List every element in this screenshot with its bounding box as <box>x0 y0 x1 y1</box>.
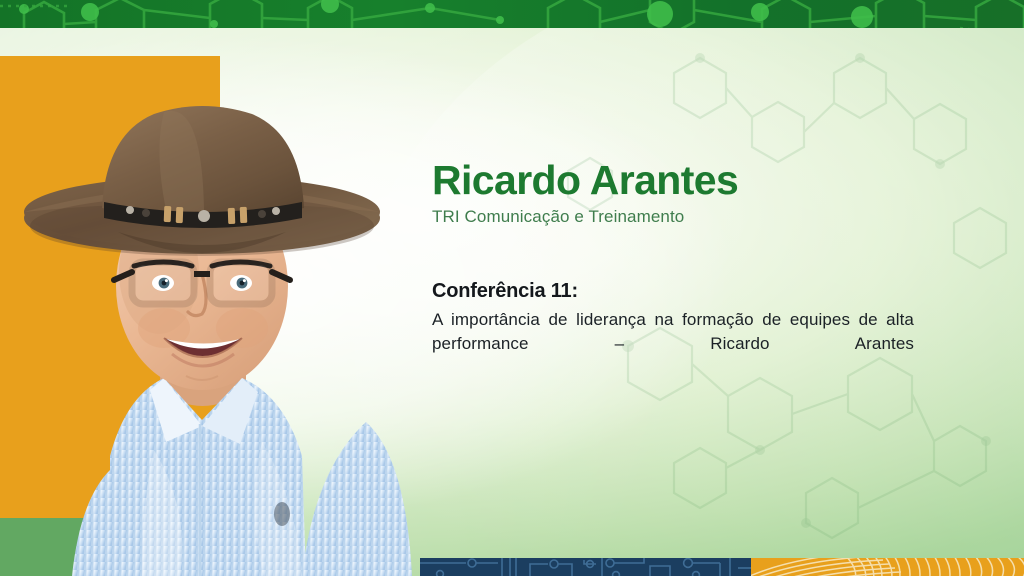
top-banner <box>0 0 1024 28</box>
talk-description: A importância de liderança na formação d… <box>432 308 914 380</box>
presentation-slide: Ricardo Arantes TRI Comunicação e Treina… <box>0 0 1024 576</box>
bottom-bar <box>420 558 1024 576</box>
circuit-board-strip <box>420 558 751 576</box>
speaker-info: Ricardo Arantes TRI Comunicação e Treina… <box>432 160 914 227</box>
talk-title: Conferência 11: <box>432 280 914 303</box>
speaker-organization: TRI Comunicação e Treinamento <box>432 207 914 227</box>
talk-info: Conferência 11: A importância de lideran… <box>432 280 914 380</box>
circuit-board-icon <box>420 558 751 576</box>
radiating-lines-strip <box>751 558 1024 576</box>
radiating-lines-icon <box>751 558 1024 576</box>
speaker-name: Ricardo Arantes <box>432 160 914 202</box>
orange-accent-block <box>0 56 220 518</box>
molecular-hexagon-banner-icon <box>0 0 1024 28</box>
green-foot-block <box>0 518 220 576</box>
